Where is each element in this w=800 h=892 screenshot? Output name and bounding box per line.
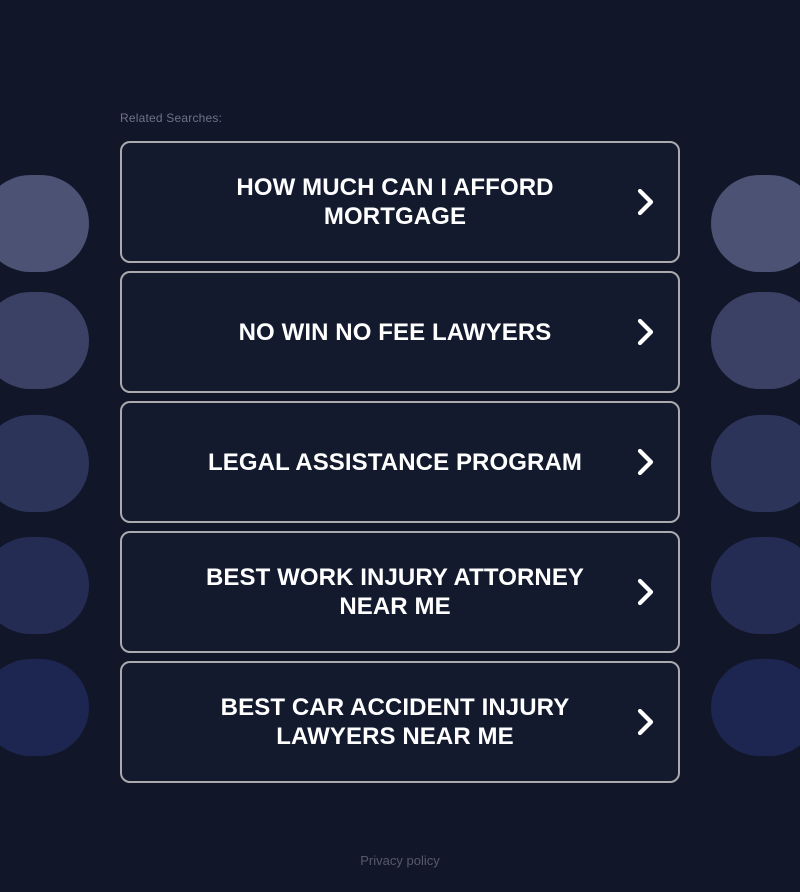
related-search-label: Best work injury attorney near me bbox=[180, 563, 610, 621]
chevron-right-icon bbox=[634, 187, 656, 217]
page-root: Related Searches: How much can I afford … bbox=[0, 0, 800, 892]
related-search-card[interactable]: Best work injury attorney near me bbox=[120, 531, 680, 653]
chevron-right-icon bbox=[634, 317, 656, 347]
related-search-card[interactable]: How much can I afford mortgage bbox=[120, 141, 680, 263]
related-search-label: Legal assistance program bbox=[208, 448, 582, 477]
related-search-label: How much can I afford mortgage bbox=[180, 173, 610, 231]
chevron-right-icon bbox=[634, 707, 656, 737]
related-searches-list: How much can I afford mortgageNo win no … bbox=[120, 141, 680, 791]
related-search-card[interactable]: No win no fee lawyers bbox=[120, 271, 680, 393]
chevron-right-icon bbox=[634, 447, 656, 477]
privacy-policy-link[interactable]: Privacy policy bbox=[360, 852, 439, 870]
related-search-card[interactable]: Legal assistance program bbox=[120, 401, 680, 523]
related-search-label: Best car accident injury lawyers near me bbox=[180, 693, 610, 751]
footer: Privacy policy bbox=[0, 852, 800, 870]
related-search-label: No win no fee lawyers bbox=[239, 318, 552, 347]
chevron-right-icon bbox=[634, 577, 656, 607]
related-searches-label: Related Searches: bbox=[120, 110, 222, 126]
related-search-card[interactable]: Best car accident injury lawyers near me bbox=[120, 661, 680, 783]
